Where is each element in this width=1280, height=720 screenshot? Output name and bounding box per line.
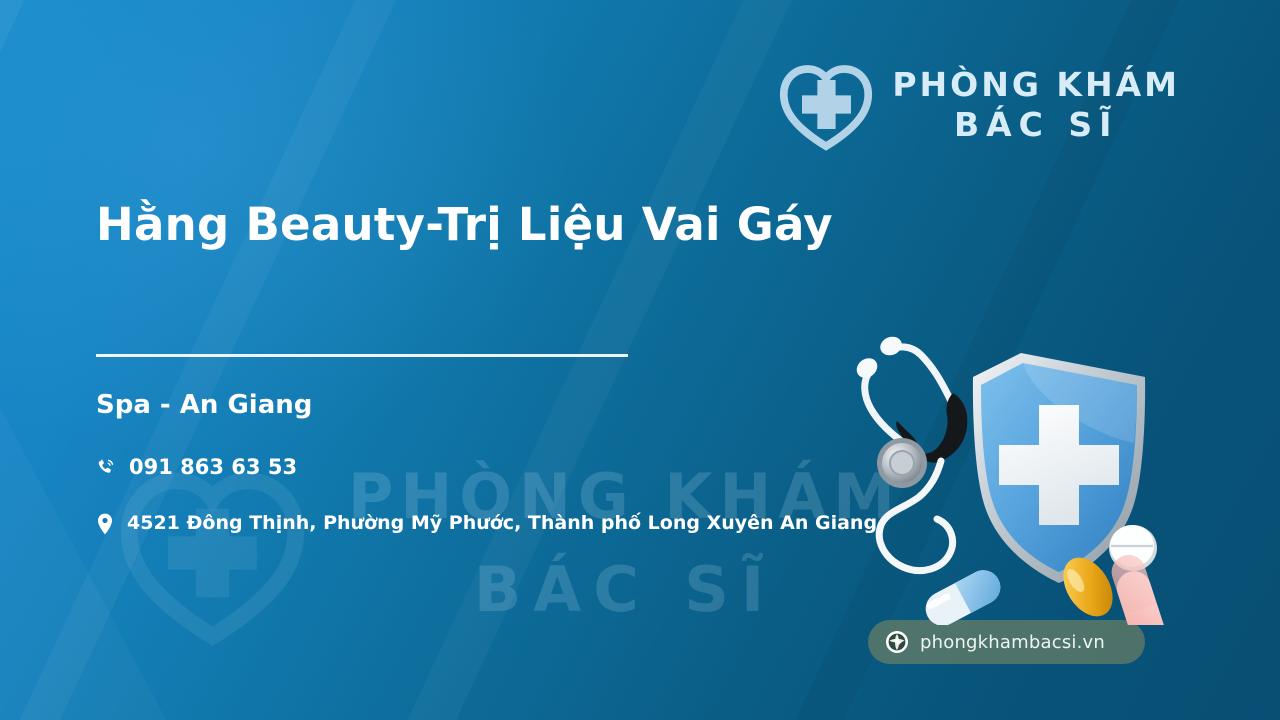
brand-logo-line1: PHÒNG KHÁM xyxy=(892,67,1180,103)
brand-logo: PHÒNG KHÁM BÁC SĨ xyxy=(778,57,1180,153)
website-url: phongkhambacsi.vn xyxy=(920,632,1105,653)
location-pin-icon xyxy=(96,513,114,535)
watermark-line2: BÁC SĨ xyxy=(325,543,925,636)
clinic-subtitle: Spa - An Giang xyxy=(96,390,312,420)
blue-white-capsule xyxy=(920,564,1007,625)
phone-icon xyxy=(96,457,116,477)
brand-logo-line2: BÁC SĨ xyxy=(892,107,1180,143)
brand-logo-text: PHÒNG KHÁM BÁC SĨ xyxy=(892,67,1180,142)
medical-illustration xyxy=(845,315,1185,625)
medical-heart-cross-icon xyxy=(778,57,874,153)
globe-icon xyxy=(885,630,909,654)
pink-white-capsule xyxy=(1107,551,1169,625)
title-divider xyxy=(96,354,628,357)
clinic-title: Hằng Beauty-Trị Liệu Vai Gáy xyxy=(96,198,916,251)
watermark-text: PHÒNG KHÁM BÁC SĨ xyxy=(325,450,925,636)
address-row: 4521 Đông Thịnh, Phường Mỹ Phước, Thành … xyxy=(96,510,896,538)
address-text: 4521 Đông Thịnh, Phường Mỹ Phước, Thành … xyxy=(127,510,877,538)
clinic-banner: PHÒNG KHÁM BÁC SĨ PHÒNG KHÁM BÁC SĨ Hằng… xyxy=(0,0,1280,720)
phone-row: 091 863 63 53 xyxy=(96,455,297,479)
website-badge[interactable]: phongkhambacsi.vn xyxy=(868,620,1145,664)
stethoscope-icon xyxy=(853,334,968,571)
phone-number: 091 863 63 53 xyxy=(129,455,297,479)
watermark-medical-heart-cross-icon xyxy=(120,458,305,648)
